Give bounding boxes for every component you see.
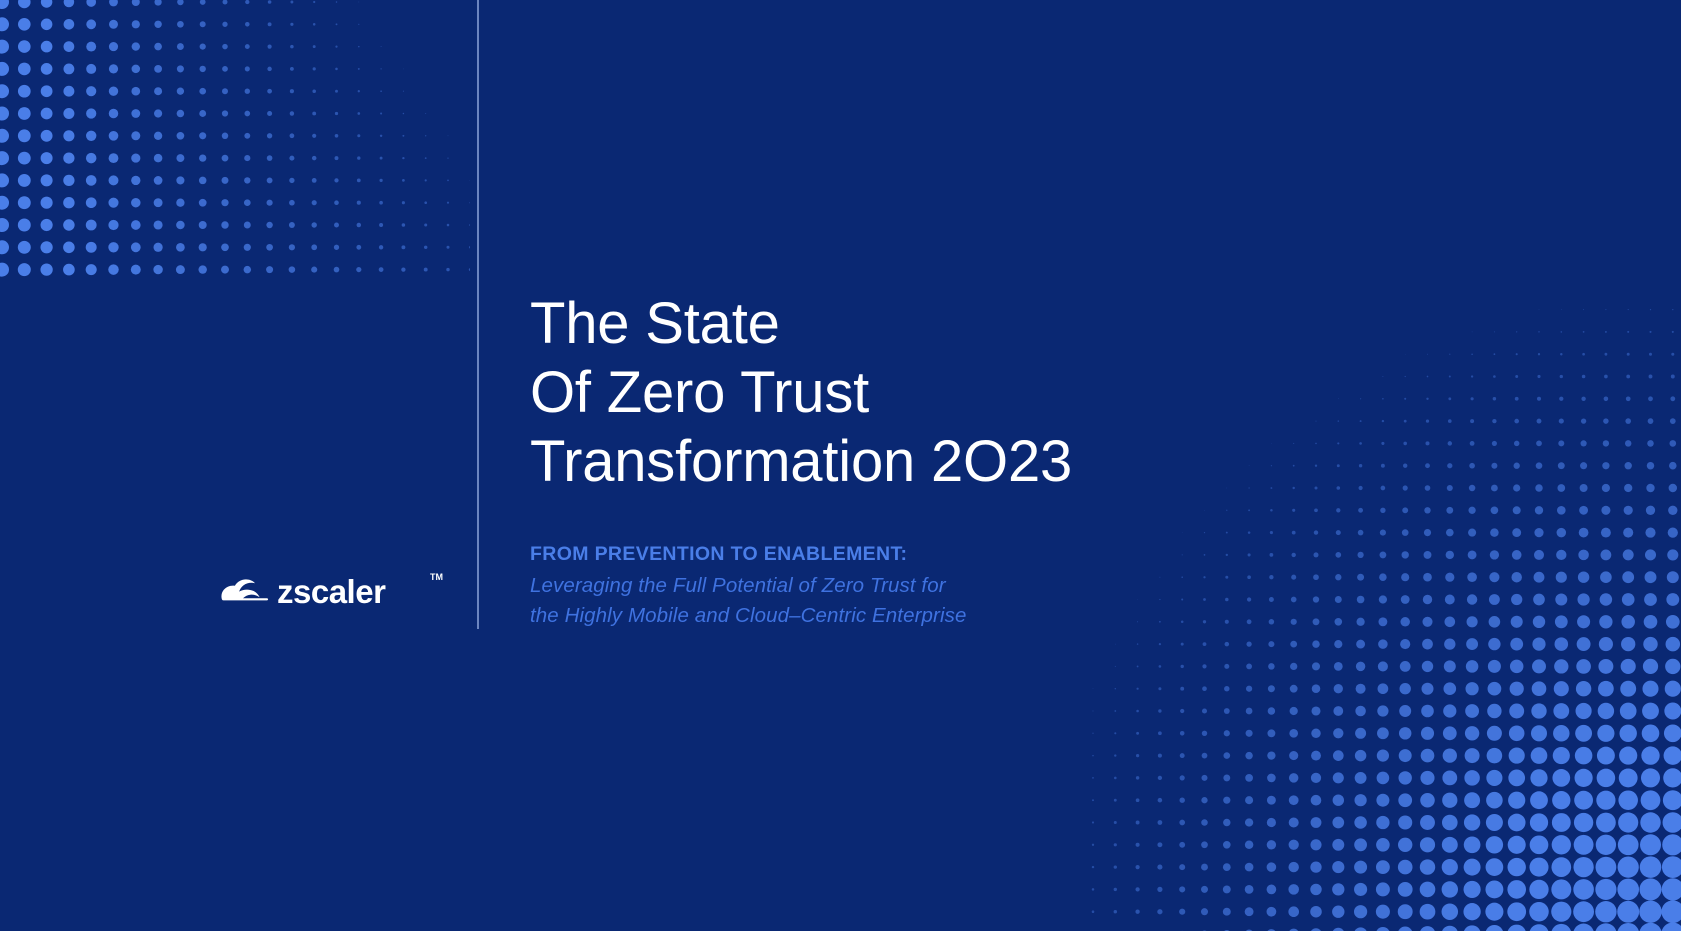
subtitle-line-1: Leveraging the Full Potential of Zero Tr… xyxy=(530,571,1290,601)
svg-text:TM: TM xyxy=(430,572,443,582)
report-cover: zscaler TM The State Of Zero Trust Trans… xyxy=(0,0,1681,931)
zscaler-wordmark: zscaler xyxy=(277,573,386,610)
zscaler-cloud-icon xyxy=(221,579,268,601)
subtitle-eyebrow: FROM PREVENTION TO ENABLEMENT: xyxy=(530,541,1290,567)
page-title-line-2: Of Zero Trust xyxy=(530,358,1290,427)
page-title-line-1: The State xyxy=(530,289,1290,358)
svg-text:zscaler: zscaler xyxy=(277,573,386,610)
halftone-dot-pattern-top-left xyxy=(0,0,470,279)
page-title-line-3: Transformation 2O23 xyxy=(530,427,1290,496)
vertical-divider xyxy=(477,0,479,629)
trademark-symbol: TM xyxy=(430,572,443,582)
zscaler-logo: zscaler TM xyxy=(219,566,451,618)
cover-text-block: The State Of Zero Trust Transformation 2… xyxy=(530,289,1290,631)
subtitle-line-2: the Highly Mobile and Cloud–Centric Ente… xyxy=(530,601,1290,631)
